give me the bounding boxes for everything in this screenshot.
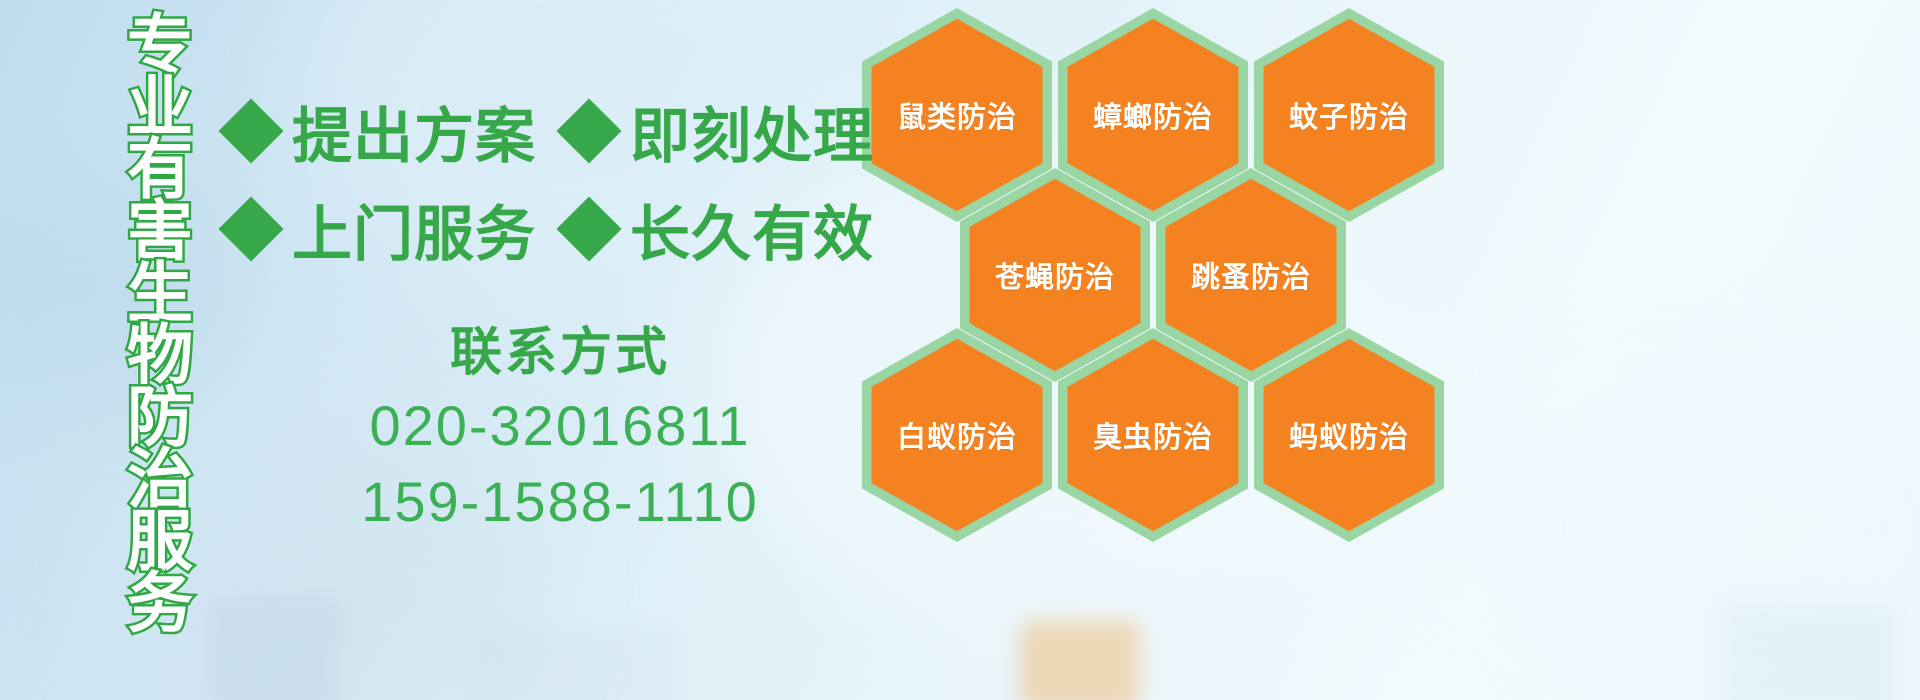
feature-label: 即刻处理 bbox=[630, 88, 874, 175]
service-hex-label: 苍蝇防治 bbox=[995, 254, 1115, 296]
vertical-title-char: 务 bbox=[127, 572, 193, 634]
contact-title: 联系方式 bbox=[300, 318, 820, 388]
background-blob bbox=[1450, 380, 1920, 680]
feature-item: 即刻处理 bbox=[566, 88, 874, 175]
diamond-bullet-icon bbox=[556, 196, 621, 261]
vertical-title-char: 服 bbox=[127, 510, 193, 572]
feature-row: 提出方案 即刻处理 bbox=[228, 82, 874, 180]
service-hexagon-grid: 鼠类防治 蟑螂防治 蚊子防治 苍蝇防治 跳蚤防治 白蚁防治 臭虫防治 蚂蚁防治 bbox=[862, 4, 1462, 564]
service-hex-label: 蚂蚁防治 bbox=[1289, 414, 1409, 456]
feature-list: 提出方案 即刻处理 上门服务 长久有效 bbox=[228, 82, 874, 278]
vertical-title-char: 物 bbox=[127, 324, 193, 386]
contact-phone-landline[interactable]: 020-32016811 bbox=[300, 388, 820, 464]
feature-item: 上门服务 bbox=[228, 186, 536, 273]
diamond-bullet-icon bbox=[218, 196, 283, 261]
vertical-title-char: 害 bbox=[127, 200, 193, 262]
vertical-title-char: 业 bbox=[127, 76, 193, 138]
diamond-bullet-icon bbox=[218, 98, 283, 163]
vertical-banner-title: 专 业 有 害 生 物 防 治 服 务 bbox=[108, 14, 212, 634]
feature-item: 长久有效 bbox=[566, 186, 874, 273]
contact-block: 联系方式 020-32016811 159-1588-1110 bbox=[300, 318, 820, 540]
feature-label: 提出方案 bbox=[292, 88, 536, 175]
feature-label: 上门服务 bbox=[292, 186, 536, 273]
feature-row: 上门服务 长久有效 bbox=[228, 180, 874, 278]
vertical-title-char: 生 bbox=[127, 262, 193, 324]
diamond-bullet-icon bbox=[556, 98, 621, 163]
contact-phone-mobile[interactable]: 159-1588-1110 bbox=[300, 464, 820, 540]
service-hex-label: 白蚁防治 bbox=[897, 414, 1017, 456]
service-hex-label: 鼠类防治 bbox=[897, 94, 1017, 136]
vertical-title-char: 治 bbox=[127, 448, 193, 510]
background-ghost-shape bbox=[210, 600, 340, 700]
feature-label: 长久有效 bbox=[630, 186, 874, 273]
service-hex-label: 蚊子防治 bbox=[1289, 94, 1409, 136]
service-hex-label: 蟑螂防治 bbox=[1093, 94, 1213, 136]
background-ghost-shape bbox=[470, 628, 680, 700]
background-ghost-shape bbox=[1020, 620, 1140, 700]
background-ghost-shape bbox=[1720, 600, 1900, 700]
feature-item: 提出方案 bbox=[228, 88, 536, 175]
service-hex-label: 臭虫防治 bbox=[1093, 414, 1213, 456]
vertical-title-char: 有 bbox=[127, 138, 193, 200]
vertical-title-char: 防 bbox=[127, 386, 193, 448]
vertical-title-char: 专 bbox=[127, 14, 193, 76]
service-hex-label: 跳蚤防治 bbox=[1191, 254, 1311, 296]
